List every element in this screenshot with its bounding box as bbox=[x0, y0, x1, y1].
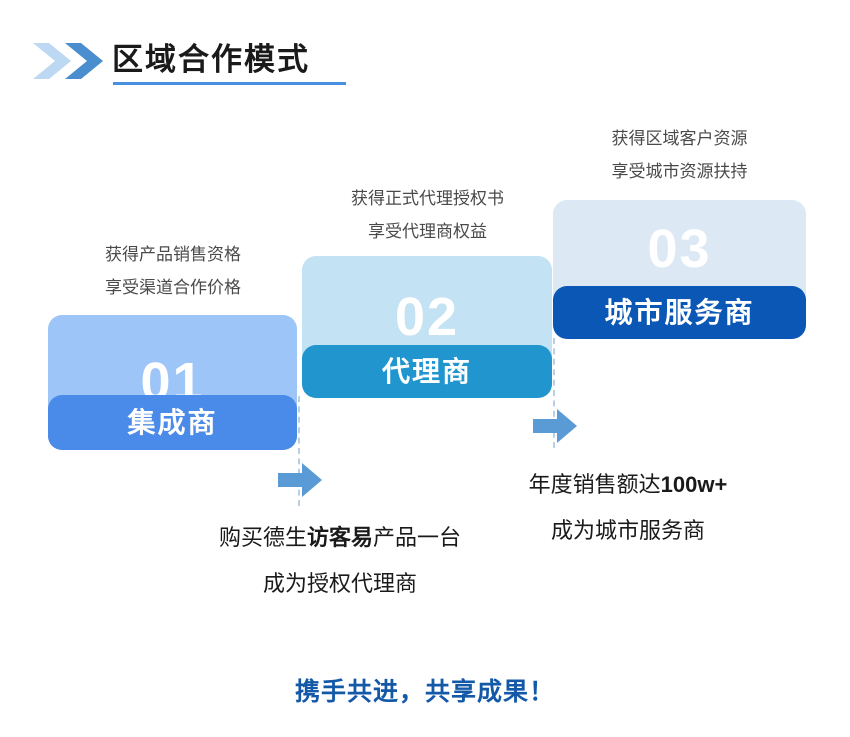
requirement-line-2: 成为授权代理商 bbox=[140, 561, 540, 607]
step-card-3-label-bar: 城市服务商 bbox=[553, 286, 806, 339]
benefit-line: 获得产品销售资格 bbox=[48, 238, 298, 271]
requirement-line-1: 年度销售额达100w+ bbox=[428, 462, 828, 508]
double-chevron-right-icon bbox=[33, 43, 105, 79]
req2-prefix: 年度销售额达 bbox=[529, 472, 661, 497]
requirement-step-2: 年度销售额达100w+ 成为城市服务商 bbox=[428, 462, 828, 554]
step-card-3-number: 03 bbox=[553, 222, 806, 276]
step-card-1-label-bar: 集成商 bbox=[48, 395, 297, 450]
benefits-step-3: 获得区域客户资源 享受城市资源扶持 bbox=[553, 122, 806, 188]
step-card-3-label: 城市服务商 bbox=[604, 299, 754, 327]
region-cooperation-infographic: 区域合作模式 获得产品销售资格 享受渠道合作价格 获得正式代理授权书 享受代理商… bbox=[0, 0, 850, 737]
slogan: 携手共进，共享成果！ bbox=[0, 672, 850, 708]
step-card-2-label-bar: 代理商 bbox=[302, 345, 552, 398]
arrow-right-icon bbox=[278, 463, 322, 502]
step-card-2[interactable]: 02 代理商 bbox=[302, 256, 552, 398]
benefits-step-2: 获得正式代理授权书 享受代理商权益 bbox=[300, 182, 555, 248]
title-underline bbox=[113, 82, 346, 85]
requirement-line-2: 成为城市服务商 bbox=[428, 508, 828, 554]
arrow-right-icon bbox=[533, 409, 577, 448]
benefit-line: 获得区域客户资源 bbox=[553, 122, 806, 155]
benefits-step-1: 获得产品销售资格 享受渠道合作价格 bbox=[48, 238, 298, 304]
benefit-line: 享受城市资源扶持 bbox=[553, 155, 806, 188]
step-card-3[interactable]: 03 城市服务商 bbox=[553, 200, 806, 339]
req2-highlight: 100w+ bbox=[661, 472, 728, 497]
step-card-1[interactable]: 01 集成商 bbox=[48, 315, 297, 450]
benefit-line: 享受渠道合作价格 bbox=[48, 271, 298, 304]
step-card-2-label: 代理商 bbox=[382, 358, 472, 386]
step-card-2-number: 02 bbox=[302, 290, 552, 344]
req1-highlight: 访客易 bbox=[307, 525, 373, 550]
benefit-line: 享受代理商权益 bbox=[300, 215, 555, 248]
header: 区域合作模式 bbox=[0, 0, 850, 100]
step-card-1-label: 集成商 bbox=[127, 409, 217, 437]
benefit-line: 获得正式代理授权书 bbox=[300, 182, 555, 215]
req1-prefix: 购买德生 bbox=[219, 525, 307, 550]
page-title: 区域合作模式 bbox=[112, 40, 310, 80]
